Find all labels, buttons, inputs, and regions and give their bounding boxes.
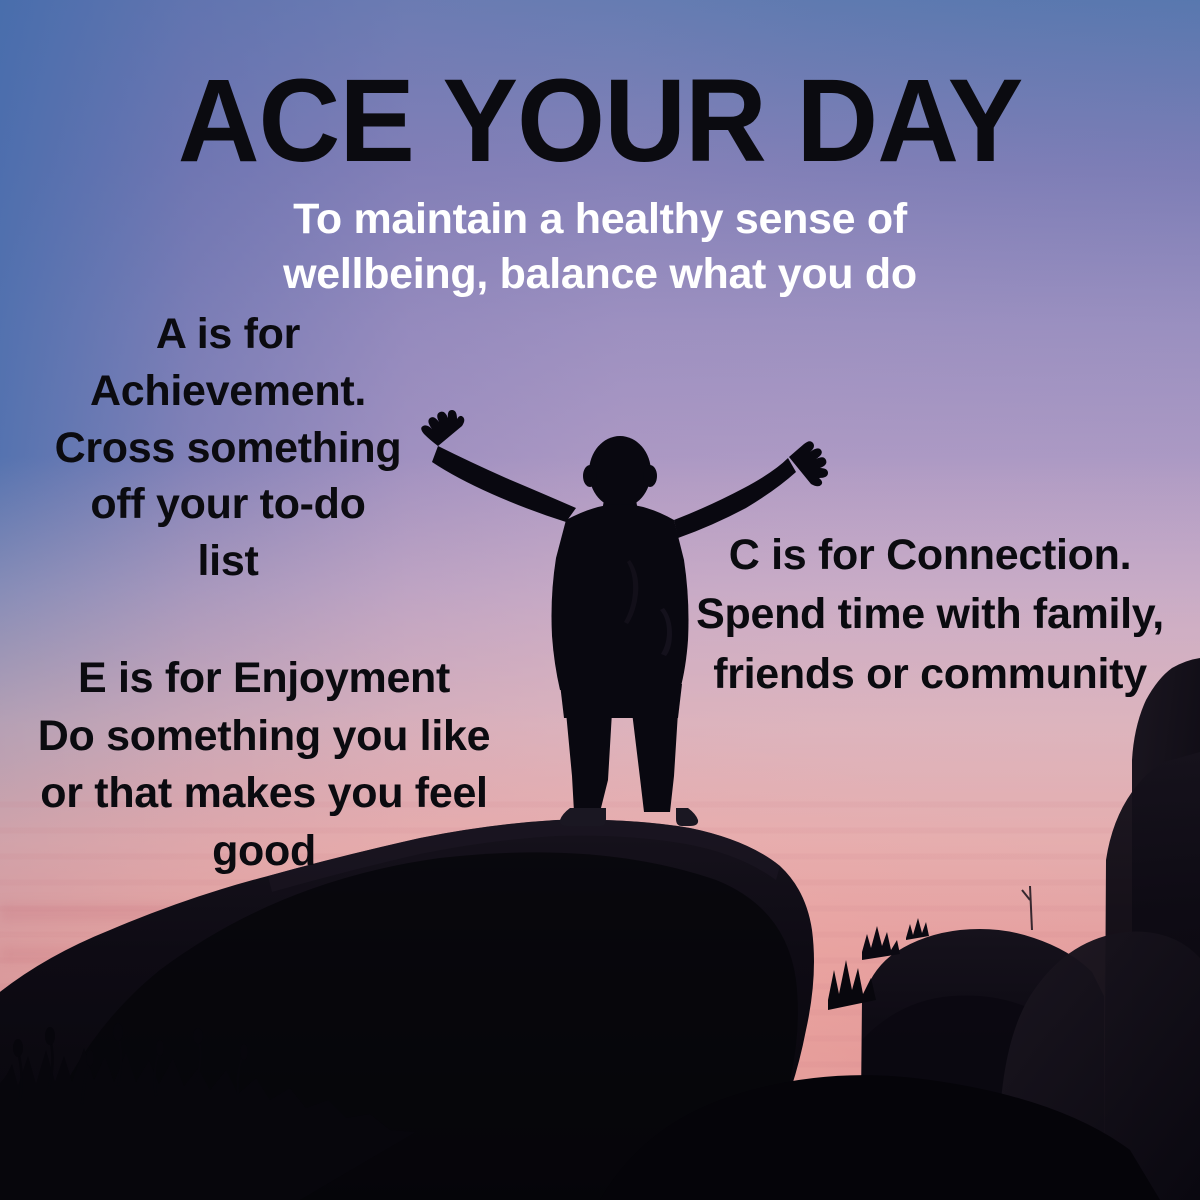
cloud-band-1 [0, 900, 560, 926]
tip-block-enjoyment: E is for Enjoyment Do something you like… [4, 650, 524, 880]
poster-canvas: ACE YOUR DAY To maintain a healthy sense… [0, 0, 1200, 1200]
page-title: ACE YOUR DAY [24, 62, 1176, 180]
cloud-band-2 [0, 944, 430, 964]
tip-block-achievement: A is for Achievement. Cross something of… [18, 306, 438, 590]
poster-subtitle: To maintain a healthy sense of wellbeing… [240, 192, 960, 302]
tip-block-connection: C is for Connection. Spend time with fam… [660, 526, 1200, 704]
distant-haze [0, 1010, 470, 1130]
